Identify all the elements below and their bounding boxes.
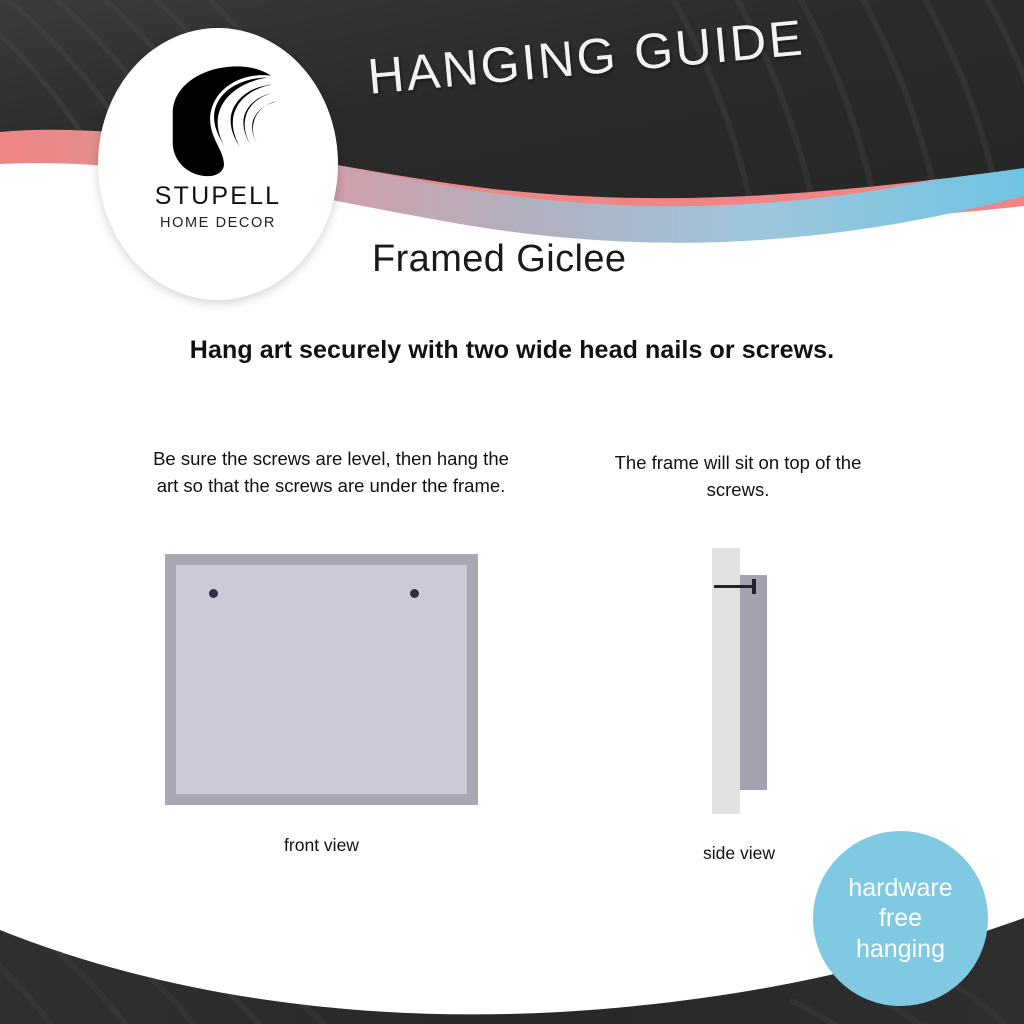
front-view-label: front view bbox=[165, 835, 478, 856]
hardware-free-badge: hardware free hanging bbox=[813, 831, 988, 1006]
brand-logo-badge: STUPELL HOME DECOR bbox=[98, 28, 338, 300]
badge-line-2: free bbox=[879, 903, 922, 934]
page-title: HANGING GUIDE bbox=[365, 1, 888, 106]
badge-line-1: hardware bbox=[848, 873, 952, 904]
hanging-guide-page: HANGING GUIDE STUPELL HOME DECOR Framed … bbox=[0, 0, 1024, 1024]
nail-head-icon bbox=[752, 579, 756, 594]
swoosh-s-icon bbox=[159, 58, 277, 178]
brand-tagline: HOME DECOR bbox=[160, 216, 276, 231]
main-instruction-text: Hang art securely with two wide head nai… bbox=[0, 336, 1024, 365]
side-view-label: side view bbox=[665, 843, 813, 864]
screw-dot-left-icon bbox=[209, 589, 218, 598]
nail-shaft-icon bbox=[714, 585, 756, 588]
brand-name: STUPELL bbox=[155, 184, 282, 209]
front-view-caption: Be sure the screws are level, then hang … bbox=[150, 446, 512, 500]
front-view-artwork-area bbox=[176, 565, 467, 794]
side-view-caption: The frame will sit on top of the screws. bbox=[588, 450, 888, 504]
badge-line-3: hanging bbox=[856, 934, 945, 965]
screw-dot-right-icon bbox=[410, 589, 419, 598]
front-view-diagram bbox=[165, 554, 478, 805]
side-view-diagram bbox=[700, 545, 810, 820]
frame-bar bbox=[740, 575, 767, 790]
product-type-heading: Framed Giclee bbox=[372, 238, 626, 281]
